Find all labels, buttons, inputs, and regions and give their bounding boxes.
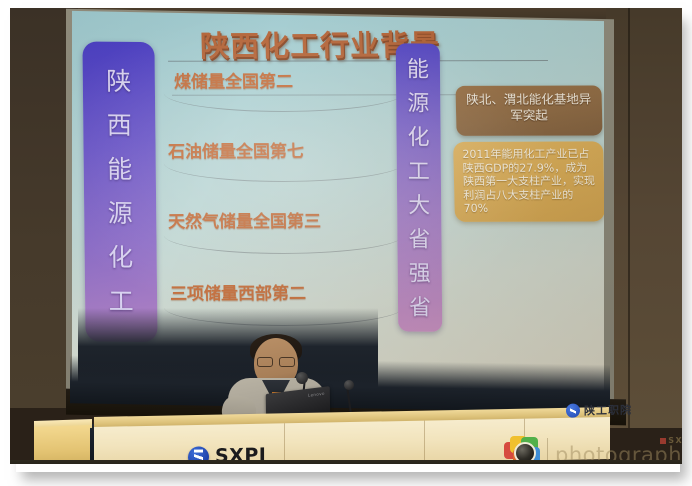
glasses-icon bbox=[257, 357, 295, 365]
laptop-brand-label: Lenovo bbox=[308, 391, 325, 398]
list-item: 石油储量全国第七 bbox=[168, 137, 397, 164]
slide-brown-callout: 陕北、渭北能化基地异军突起 bbox=[455, 85, 602, 136]
list-item: 天然气储量全国第三 bbox=[168, 207, 397, 234]
slide-mid-panel-label: 能 源 化 工 大 省 强 省 bbox=[396, 53, 442, 325]
podium-panel-seam bbox=[284, 423, 285, 464]
list-item: 煤储量全国第二 bbox=[174, 67, 403, 94]
slide-mid-panel: 能 源 化 工 大 省 强 省 bbox=[396, 43, 443, 331]
wave-divider bbox=[164, 233, 404, 254]
microphone-head bbox=[296, 372, 308, 384]
slide-left-panel-label: 陕 西 能 源 化 工 bbox=[83, 59, 158, 324]
conference-photo: 陕西化工行业背景 陕 西 能 源 化 工 煤储量全国第二 石油储量全国第七 bbox=[10, 8, 682, 464]
left-char-4: 化 bbox=[84, 236, 156, 281]
wall-seam bbox=[628, 8, 630, 428]
mid-char-1: 源 bbox=[396, 87, 440, 121]
photo-frame: 陕西化工行业背景 陕 西 能 源 化 工 煤储量全国第二 石油储量全国第七 bbox=[0, 0, 692, 486]
wave-divider bbox=[164, 161, 404, 182]
slide-left-panel: 陕 西 能 源 化 工 bbox=[82, 41, 157, 342]
left-char-3: 源 bbox=[84, 191, 156, 236]
institution-sign-text: 陕工职院 bbox=[584, 402, 632, 419]
mid-char-3: 工 bbox=[397, 155, 441, 189]
microphone-head-secondary bbox=[344, 380, 354, 390]
podium-panel-seam bbox=[424, 421, 425, 463]
mid-char-4: 大 bbox=[397, 189, 441, 223]
wave-divider bbox=[164, 91, 404, 112]
institution-sign: 陕工职院 bbox=[566, 399, 656, 421]
mid-char-0: 能 bbox=[396, 53, 440, 87]
mid-char-2: 化 bbox=[396, 121, 440, 155]
mid-char-5: 省 bbox=[397, 223, 441, 257]
left-char-2: 能 bbox=[84, 147, 156, 192]
slide-title: 陕西化工行业背景 bbox=[200, 22, 521, 66]
mid-char-6: 强 bbox=[398, 257, 442, 291]
left-char-0: 陕 bbox=[83, 59, 155, 104]
slide-yellow-callout: 2011年能用化工产业已占陕西GDP的27.9%，成为陕西第一大支柱产业，实现利… bbox=[453, 141, 604, 222]
list-item: 三项储量西部第二 bbox=[170, 279, 399, 306]
side-table bbox=[34, 425, 90, 464]
stage-dark-band-lower bbox=[70, 355, 610, 412]
floor-strip bbox=[10, 460, 682, 464]
mid-char-7: 省 bbox=[398, 291, 442, 325]
wall-right bbox=[606, 8, 682, 428]
left-char-1: 西 bbox=[83, 103, 155, 148]
institution-emblem-icon bbox=[566, 404, 580, 418]
